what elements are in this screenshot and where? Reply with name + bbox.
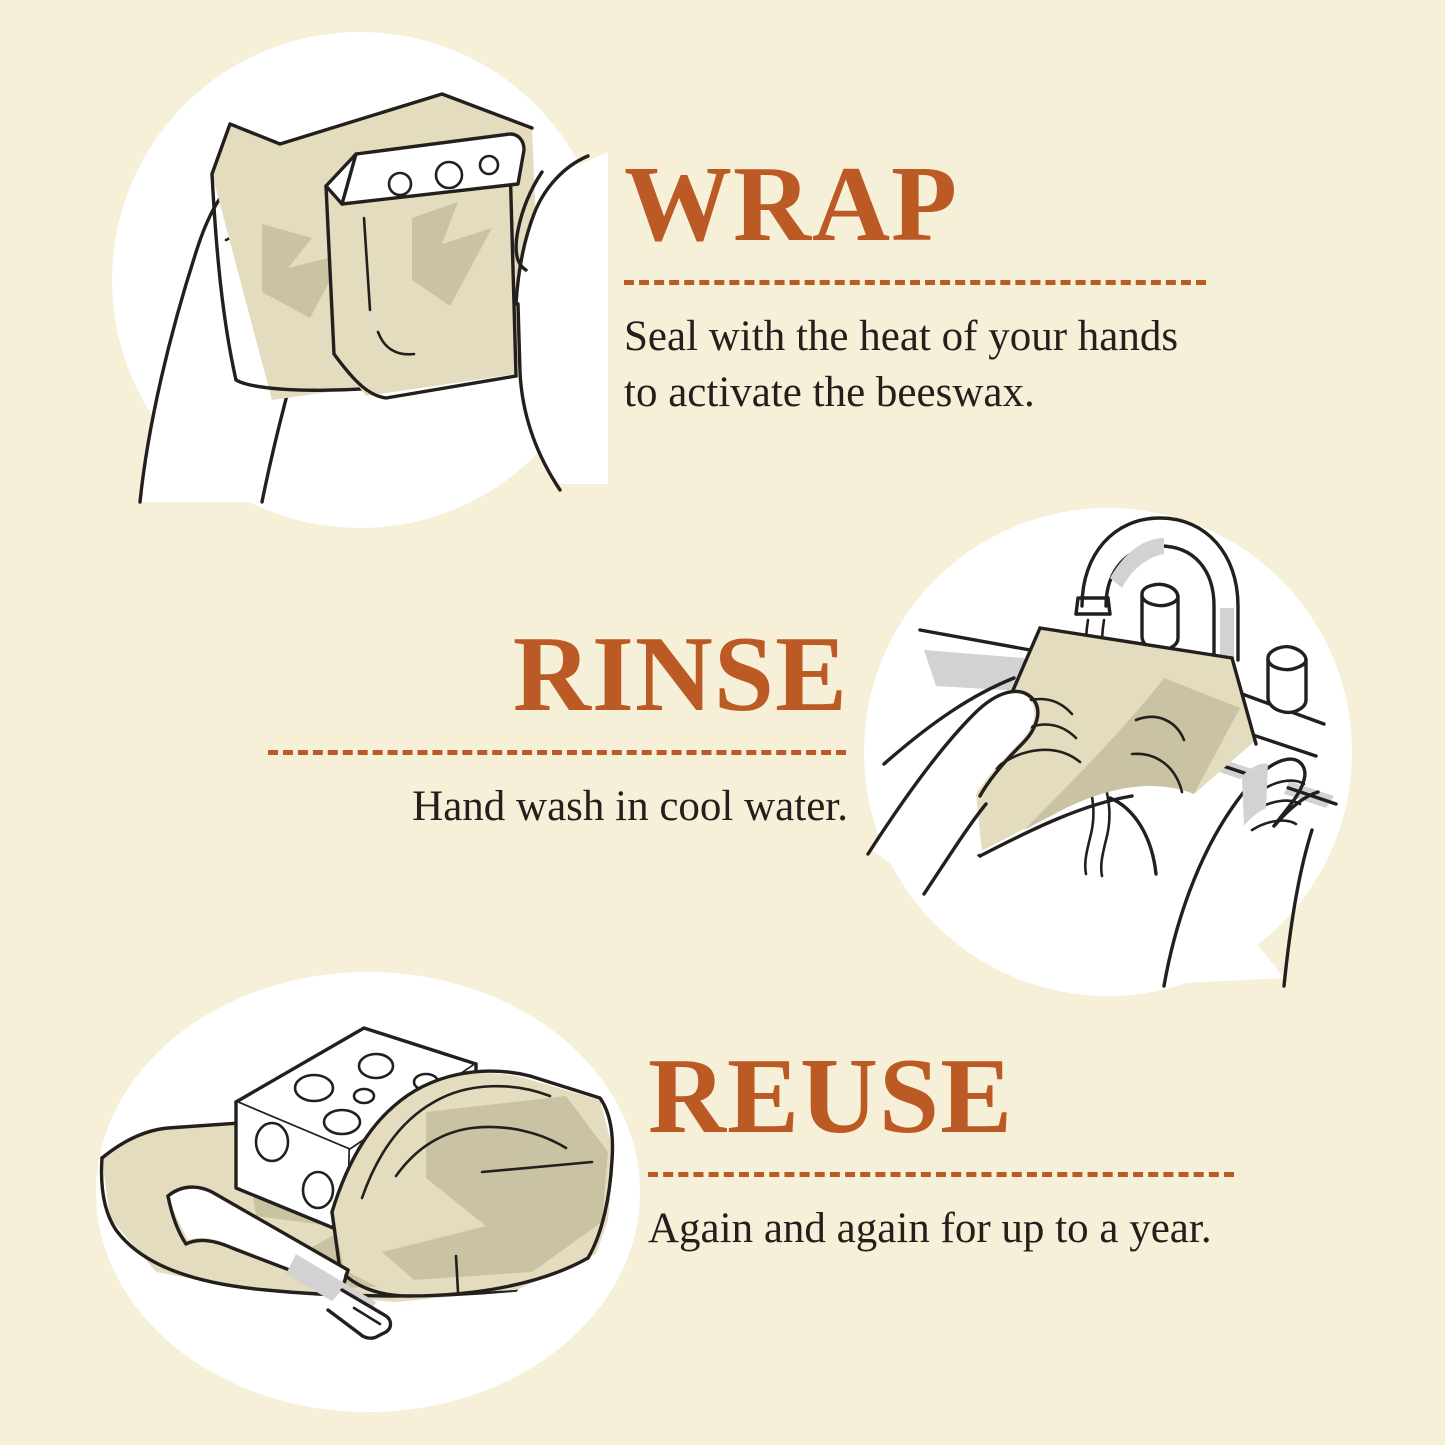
step-description-rinse: Hand wash in cool water. (268, 779, 848, 835)
rinse-illustration (864, 508, 1352, 996)
step-title-wrap: WRAP (624, 150, 1214, 260)
infographic-page: WRAP Seal with the heat of your hands to… (0, 0, 1445, 1445)
step-title-rinse: RINSE (268, 620, 848, 730)
wrap-illustration (112, 32, 608, 528)
rinse-text-block: RINSE Hand wash in cool water. (268, 620, 848, 835)
divider-reuse (648, 1172, 1234, 1177)
wrap-text-block: WRAP Seal with the heat of your hands to… (624, 150, 1214, 421)
divider-rinse (268, 750, 846, 755)
reuse-illustration (96, 972, 640, 1412)
reuse-text-block: REUSE Again and again for up to a year. (648, 1042, 1238, 1257)
step-title-reuse: REUSE (648, 1042, 1238, 1152)
step-description-reuse: Again and again for up to a year. (648, 1201, 1238, 1257)
divider-wrap (624, 280, 1206, 285)
step-description-wrap: Seal with the heat of your hands to acti… (624, 309, 1214, 421)
